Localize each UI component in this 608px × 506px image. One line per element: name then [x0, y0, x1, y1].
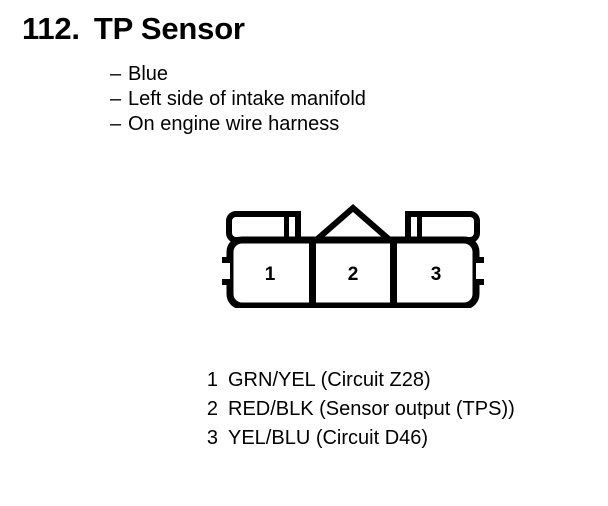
dash-icon: – [110, 112, 128, 137]
left-latch-slot-icon [284, 217, 289, 237]
dash-icon: – [110, 87, 128, 112]
legend-pin-number: 3 [200, 424, 218, 453]
list-item-label: On engine wire harness [128, 113, 339, 135]
list-item: –Blue [110, 62, 366, 87]
list-item-label: Blue [128, 63, 168, 85]
page-title: 112.TP Sensor [22, 10, 245, 48]
cavity-number-3: 3 [431, 264, 442, 285]
legend-pin-number: 2 [200, 395, 218, 424]
connector-diagram: 1 2 3 [222, 196, 484, 308]
legend-pin-description: RED/BLK (Sensor output (TPS)) [228, 398, 515, 420]
dash-icon: – [110, 62, 128, 87]
list-item: –Left side of intake manifold [110, 87, 366, 112]
attribute-list: –Blue –Left side of intake manifold –On … [110, 62, 366, 137]
right-latch-slot-icon [417, 217, 422, 237]
cavity-number-1: 1 [265, 264, 276, 285]
legend-pin-description: YEL/BLU (Circuit D46) [228, 427, 428, 449]
legend-row: 1GRN/YEL (Circuit Z28) [200, 366, 515, 395]
legend-row: 3YEL/BLU (Circuit D46) [200, 424, 515, 453]
legend-pin-description: GRN/YEL (Circuit Z28) [228, 369, 431, 391]
right-side-nub-icon [476, 260, 484, 282]
page-title-number: 112. [22, 11, 80, 46]
left-side-nub-icon [222, 260, 230, 282]
legend-row: 2RED/BLK (Sensor output (TPS)) [200, 395, 515, 424]
legend-pin-number: 1 [200, 366, 218, 395]
pin-legend: 1GRN/YEL (Circuit Z28) 2RED/BLK (Sensor … [200, 366, 515, 453]
cavity-divider [309, 240, 316, 306]
list-item: –On engine wire harness [110, 112, 366, 137]
page-title-text: TP Sensor [94, 11, 245, 46]
list-item-label: Left side of intake manifold [128, 88, 366, 110]
cavity-divider [390, 240, 397, 306]
cavity-number-2: 2 [348, 264, 359, 285]
